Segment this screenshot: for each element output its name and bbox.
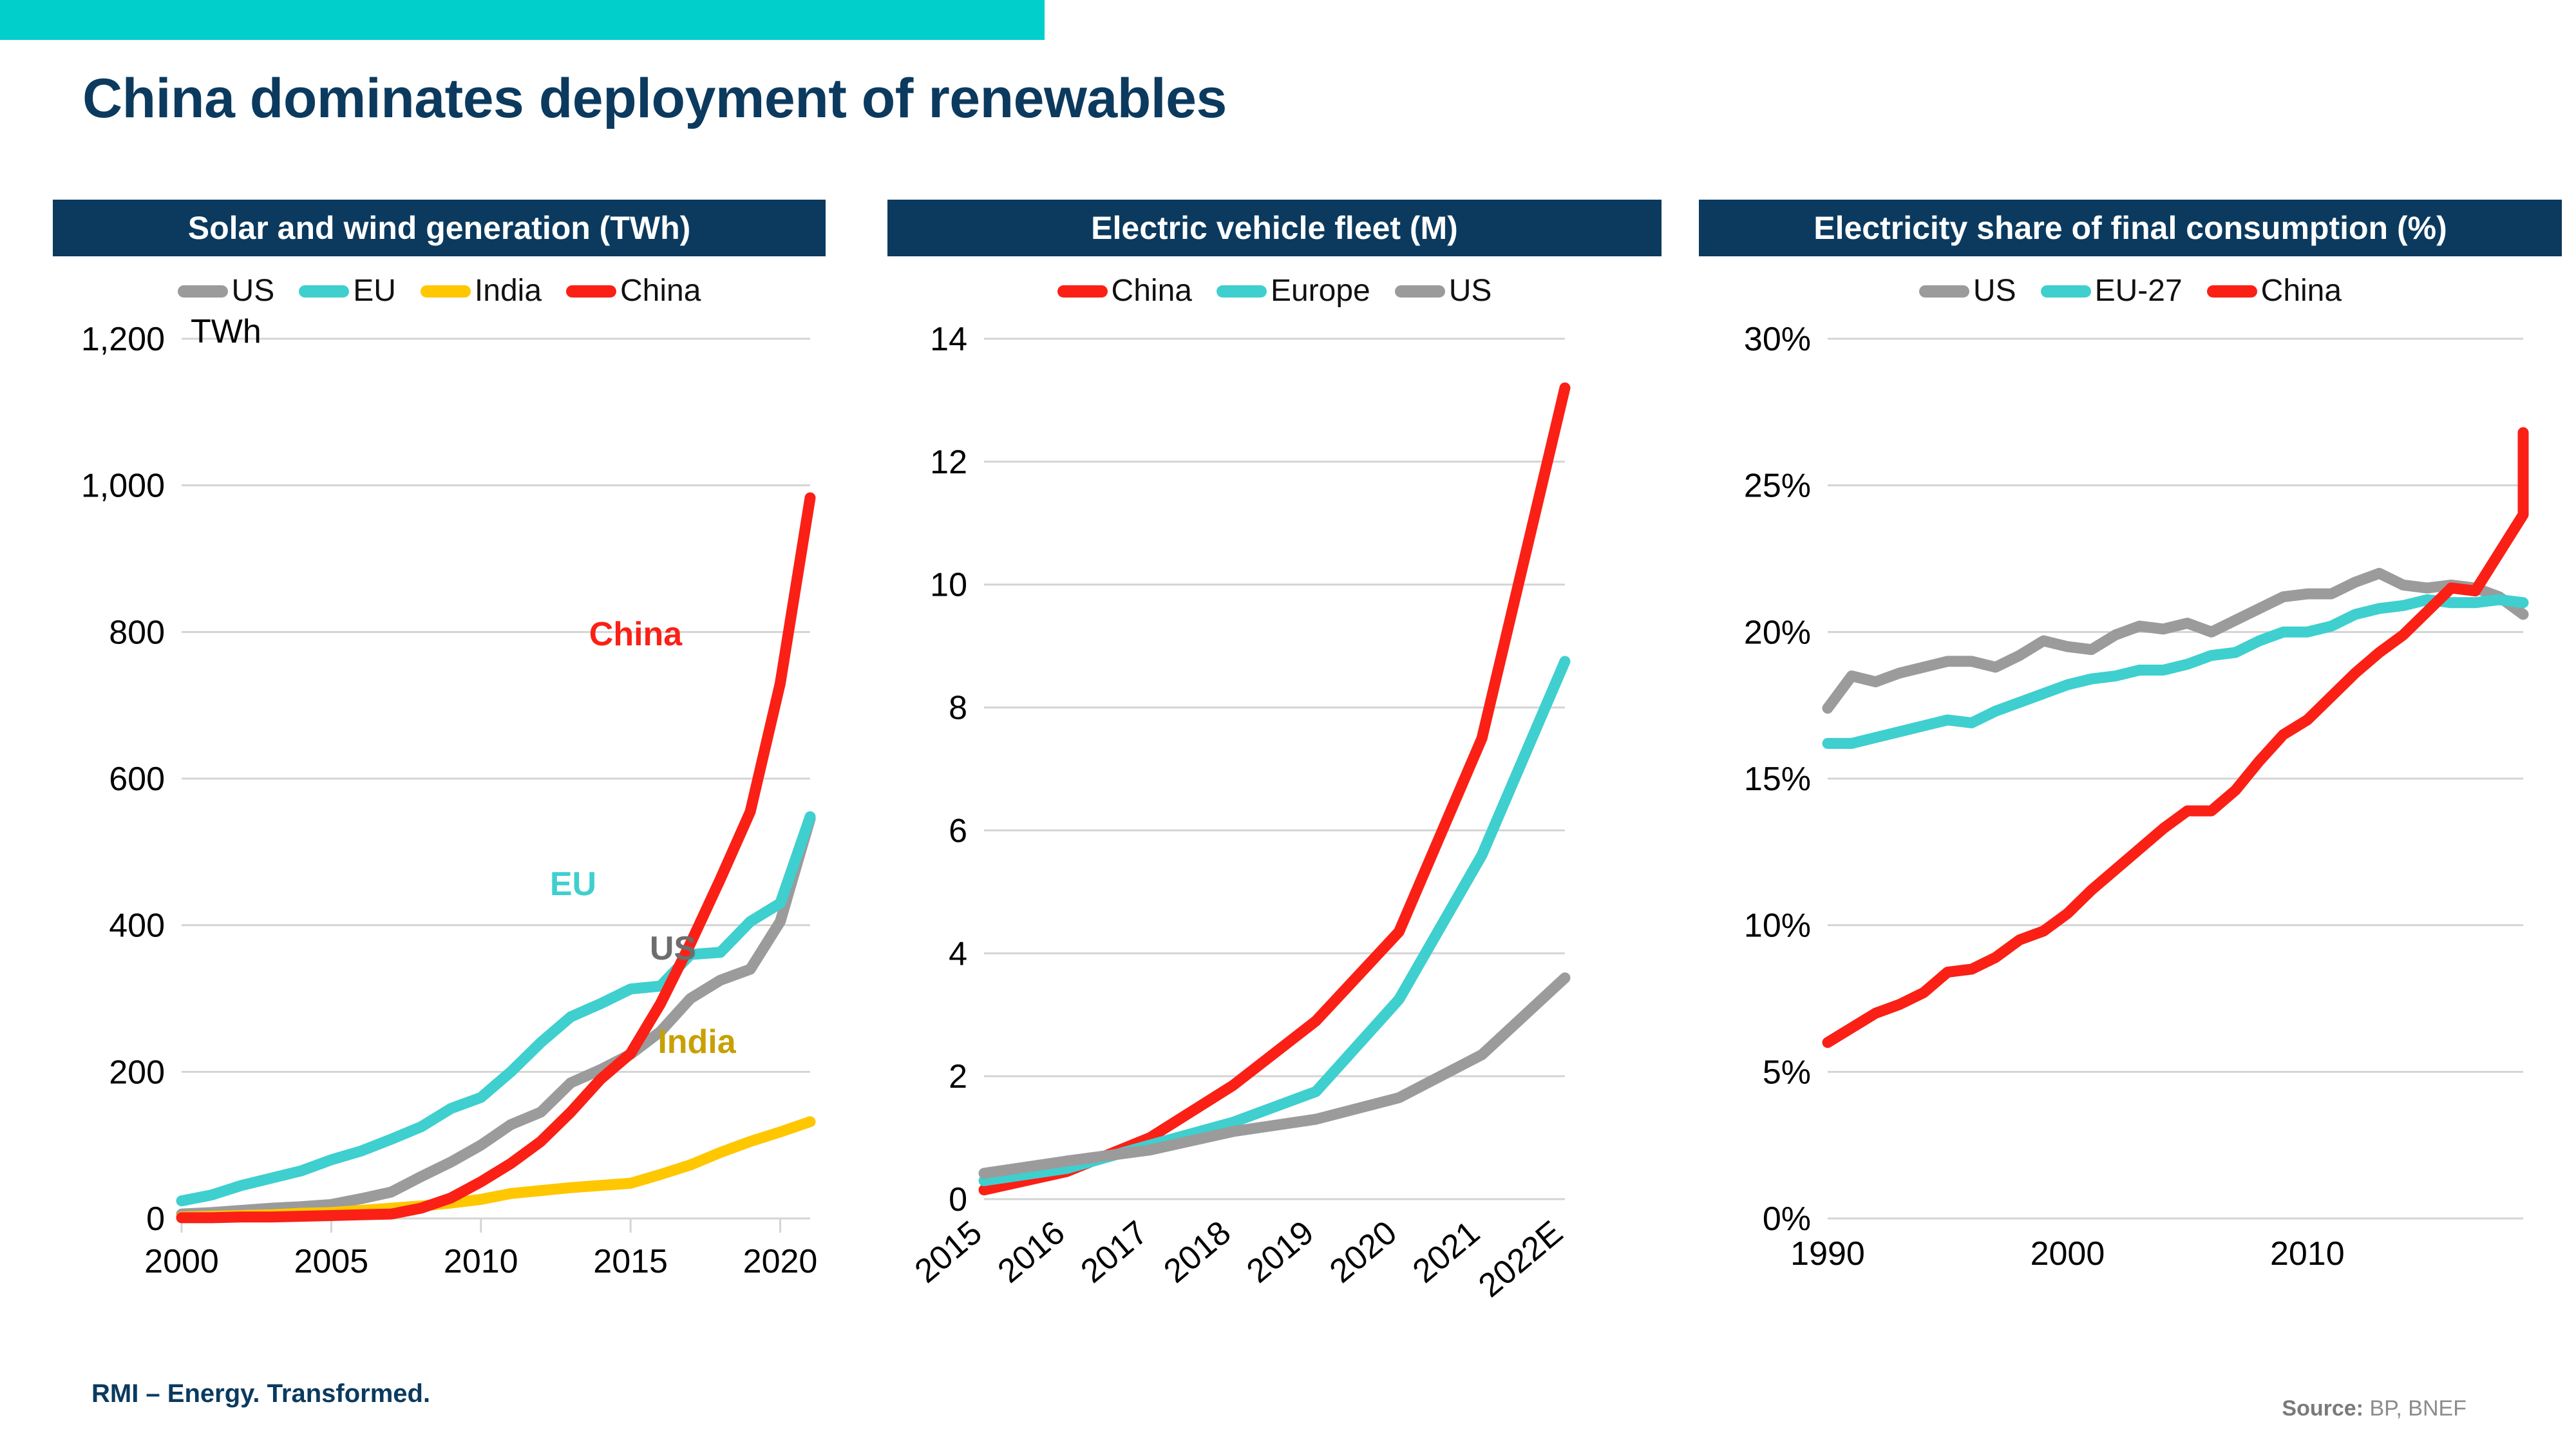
page-title: China dominates deployment of renewables — [82, 67, 1227, 131]
chart-svg-solar-wind: 02004006008001,0001,200TWh20002005201020… — [53, 316, 826, 1365]
legend-label-europe: Europe — [1271, 276, 1370, 307]
top-accent-bar — [0, 0, 1045, 40]
svg-text:2005: 2005 — [294, 1243, 369, 1280]
svg-text:30%: 30% — [1744, 321, 1811, 358]
chart-svg-electricity-share: 0%5%10%15%20%25%30%199020002010 — [1699, 316, 2562, 1365]
legend-item-eu[interactable]: EU — [299, 276, 396, 307]
svg-text:12: 12 — [930, 444, 967, 481]
svg-text:US: US — [650, 930, 696, 967]
legend-label-india: India — [475, 276, 542, 307]
svg-text:2022E: 2022E — [1472, 1214, 1569, 1305]
svg-text:2016: 2016 — [991, 1214, 1072, 1291]
svg-text:6: 6 — [949, 812, 967, 849]
legend-label-china: China — [2261, 276, 2342, 307]
legend-item-europe[interactable]: Europe — [1217, 276, 1370, 307]
svg-text:TWh: TWh — [191, 316, 261, 350]
svg-text:2: 2 — [949, 1058, 967, 1095]
legend-label-us: US — [1449, 276, 1492, 307]
svg-text:20%: 20% — [1744, 614, 1811, 651]
svg-text:2017: 2017 — [1074, 1214, 1155, 1291]
svg-text:India: India — [658, 1023, 736, 1061]
svg-text:1990: 1990 — [1790, 1235, 1865, 1273]
svg-text:2019: 2019 — [1240, 1214, 1321, 1291]
legend-swatch-china — [1057, 285, 1108, 298]
svg-text:0%: 0% — [1763, 1200, 1811, 1238]
legend-label-eu27: EU-27 — [2095, 276, 2183, 307]
svg-text:400: 400 — [109, 907, 165, 945]
panel-title-electricity-share: Electricity share of final consumption (… — [1699, 200, 2562, 256]
legend-swatch-china — [2207, 285, 2257, 298]
svg-text:2010: 2010 — [2270, 1235, 2345, 1273]
legend-swatch-us — [1919, 285, 1969, 298]
panel-title-solar-wind: Solar and wind generation (TWh) — [53, 200, 826, 256]
plot-solar-wind: 02004006008001,0001,200TWh20002005201020… — [53, 316, 826, 1365]
legend-swatch-europe — [1217, 285, 1267, 298]
svg-text:0: 0 — [146, 1200, 165, 1238]
svg-text:2015: 2015 — [593, 1243, 668, 1280]
legend-item-china[interactable]: China — [1057, 276, 1192, 307]
svg-text:2000: 2000 — [2031, 1235, 2105, 1273]
panel-ev-fleet: Electric vehicle fleet (M) China Europe … — [887, 200, 1662, 1365]
legend-item-eu27[interactable]: EU-27 — [2041, 276, 2183, 307]
legend-item-india[interactable]: India — [421, 276, 542, 307]
svg-text:800: 800 — [109, 614, 165, 651]
legend-item-us[interactable]: US — [1395, 276, 1492, 307]
plot-ev-fleet: 0246810121420152016201720182019202020212… — [887, 316, 1662, 1365]
svg-text:2010: 2010 — [444, 1243, 518, 1280]
legend-item-china[interactable]: China — [566, 276, 701, 307]
legend-swatch-us — [1395, 285, 1445, 298]
svg-text:200: 200 — [109, 1054, 165, 1091]
legend-swatch-eu27 — [2041, 285, 2091, 298]
svg-text:15%: 15% — [1744, 761, 1811, 798]
svg-text:0: 0 — [949, 1181, 967, 1218]
legend-swatch-us — [178, 285, 228, 298]
footer-source: Source: BP, BNEF — [2282, 1396, 2467, 1421]
legend-label-china: China — [620, 276, 701, 307]
svg-text:600: 600 — [109, 761, 165, 798]
legend-label-china: China — [1112, 276, 1192, 307]
panel-title-ev-fleet: Electric vehicle fleet (M) — [887, 200, 1662, 256]
svg-text:1,200: 1,200 — [81, 321, 165, 358]
legend-swatch-eu — [299, 285, 349, 298]
svg-text:25%: 25% — [1744, 468, 1811, 505]
svg-text:10%: 10% — [1744, 907, 1811, 945]
svg-text:5%: 5% — [1763, 1054, 1811, 1091]
footer-source-label: Source: — [2282, 1396, 2363, 1421]
legend-electricity-share: US EU-27 China — [1699, 273, 2562, 309]
svg-text:8: 8 — [949, 690, 967, 727]
svg-text:4: 4 — [949, 935, 967, 972]
legend-solar-wind: US EU India China — [53, 273, 826, 309]
legend-item-china[interactable]: China — [2207, 276, 2342, 307]
svg-text:China: China — [589, 616, 683, 653]
legend-ev-fleet: China Europe US — [887, 273, 1662, 309]
footer-brand: RMI – Energy. Transformed. — [91, 1379, 430, 1408]
legend-item-us[interactable]: US — [178, 276, 275, 307]
panel-solar-wind: Solar and wind generation (TWh) US EU In… — [53, 200, 826, 1365]
svg-text:2020: 2020 — [743, 1243, 818, 1280]
legend-item-us[interactable]: US — [1919, 276, 2016, 307]
legend-swatch-india — [421, 285, 471, 298]
svg-text:1,000: 1,000 — [81, 468, 165, 505]
chart-svg-ev-fleet: 0246810121420152016201720182019202020212… — [887, 316, 1662, 1365]
footer-source-value: BP, BNEF — [2363, 1396, 2467, 1421]
svg-text:EU: EU — [550, 866, 596, 903]
svg-text:2015: 2015 — [908, 1214, 989, 1291]
svg-text:10: 10 — [930, 567, 967, 604]
svg-text:2018: 2018 — [1157, 1214, 1238, 1291]
legend-label-us: US — [232, 276, 275, 307]
legend-label-eu: EU — [353, 276, 396, 307]
panel-electricity-share: Electricity share of final consumption (… — [1699, 200, 2562, 1365]
legend-label-us: US — [1973, 276, 2016, 307]
legend-swatch-china — [566, 285, 616, 298]
svg-text:2000: 2000 — [144, 1243, 219, 1280]
svg-text:14: 14 — [930, 321, 967, 358]
svg-text:2020: 2020 — [1323, 1214, 1404, 1291]
plot-electricity-share: 0%5%10%15%20%25%30%199020002010 — [1699, 316, 2562, 1365]
